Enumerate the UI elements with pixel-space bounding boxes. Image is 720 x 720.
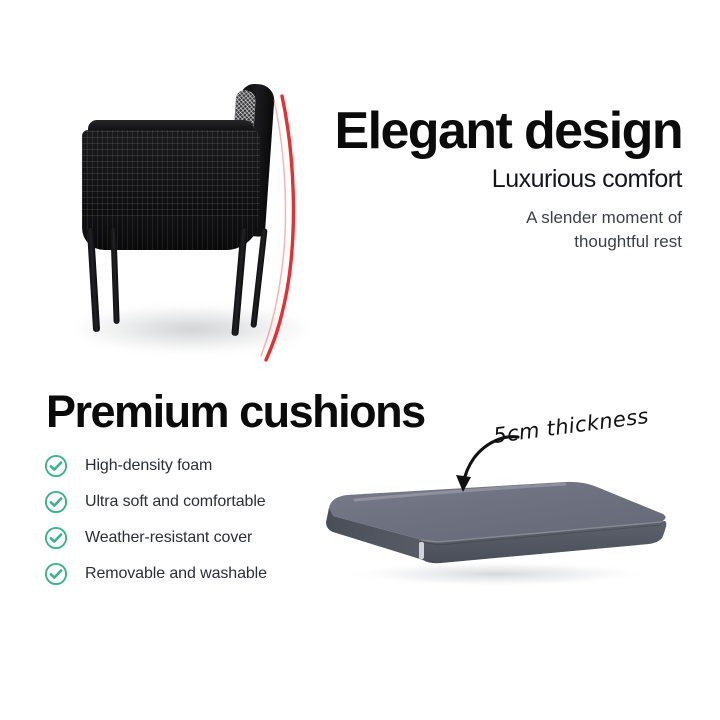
list-item: Ultra soft and comfortable <box>44 484 344 520</box>
page-subheadline: Luxurious comfort <box>330 164 682 194</box>
check-circle-icon <box>44 526 68 550</box>
list-item: Weather-resistant cover <box>44 520 344 556</box>
elegant-design-text-block: Elegant design Luxurious comfort A slend… <box>330 104 682 254</box>
chair-wicker-body <box>82 130 260 234</box>
feature-list: High-density foam Ultra soft and comfort… <box>44 448 344 592</box>
page-body-copy: A slender moment of thoughtful rest <box>330 206 682 254</box>
cushion-zipper-pull <box>419 542 424 559</box>
check-circle-icon <box>44 562 68 586</box>
list-item-label: Removable and washable <box>85 564 267 584</box>
thickness-callout-label: 5cm thickness <box>492 404 650 448</box>
infographic-page: Elegant design Luxurious comfort A slend… <box>0 0 720 720</box>
body-line-2: thoughtful rest <box>330 230 682 254</box>
cushion-drop-shadow <box>341 561 653 587</box>
list-item: Removable and washable <box>44 556 344 592</box>
wicker-armchair-image <box>60 78 325 378</box>
premium-cushions-heading: Premium cushions <box>46 388 425 436</box>
cushion-illustration <box>315 470 675 590</box>
grey-cushion-image <box>315 470 675 590</box>
check-circle-icon <box>44 454 68 478</box>
body-line-1: A slender moment of <box>330 206 682 230</box>
list-item-label: Weather-resistant cover <box>85 528 252 548</box>
page-headline: Elegant design <box>330 104 682 158</box>
check-circle-icon <box>44 490 68 514</box>
list-item-label: Ultra soft and comfortable <box>85 492 266 512</box>
list-item-label: High-density foam <box>85 456 212 476</box>
list-item: High-density foam <box>44 448 344 484</box>
chair-drop-shadow <box>78 306 306 352</box>
